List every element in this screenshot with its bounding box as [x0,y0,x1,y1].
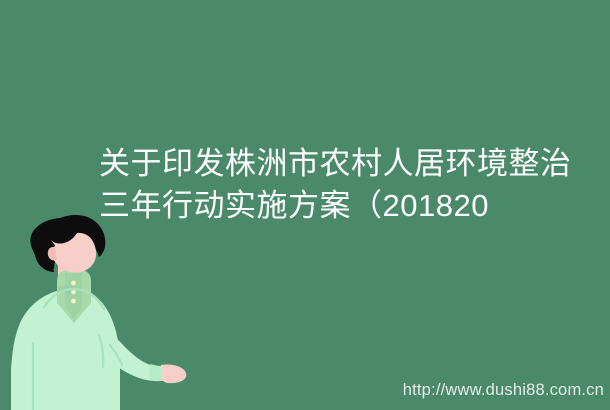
hand [161,364,186,383]
sleeve-cuff [149,364,163,381]
cover-image: 关于印发株洲市农村人居环境整治 三年行动实施方案（201820 http://w… [0,0,610,410]
title-line-1: 关于印发株洲市农村人居环境整治 [99,143,604,185]
person-illustration [0,195,200,410]
button [71,299,76,304]
watermark-url: http://www.dushi88.com.cn [403,380,604,400]
button [71,281,76,286]
